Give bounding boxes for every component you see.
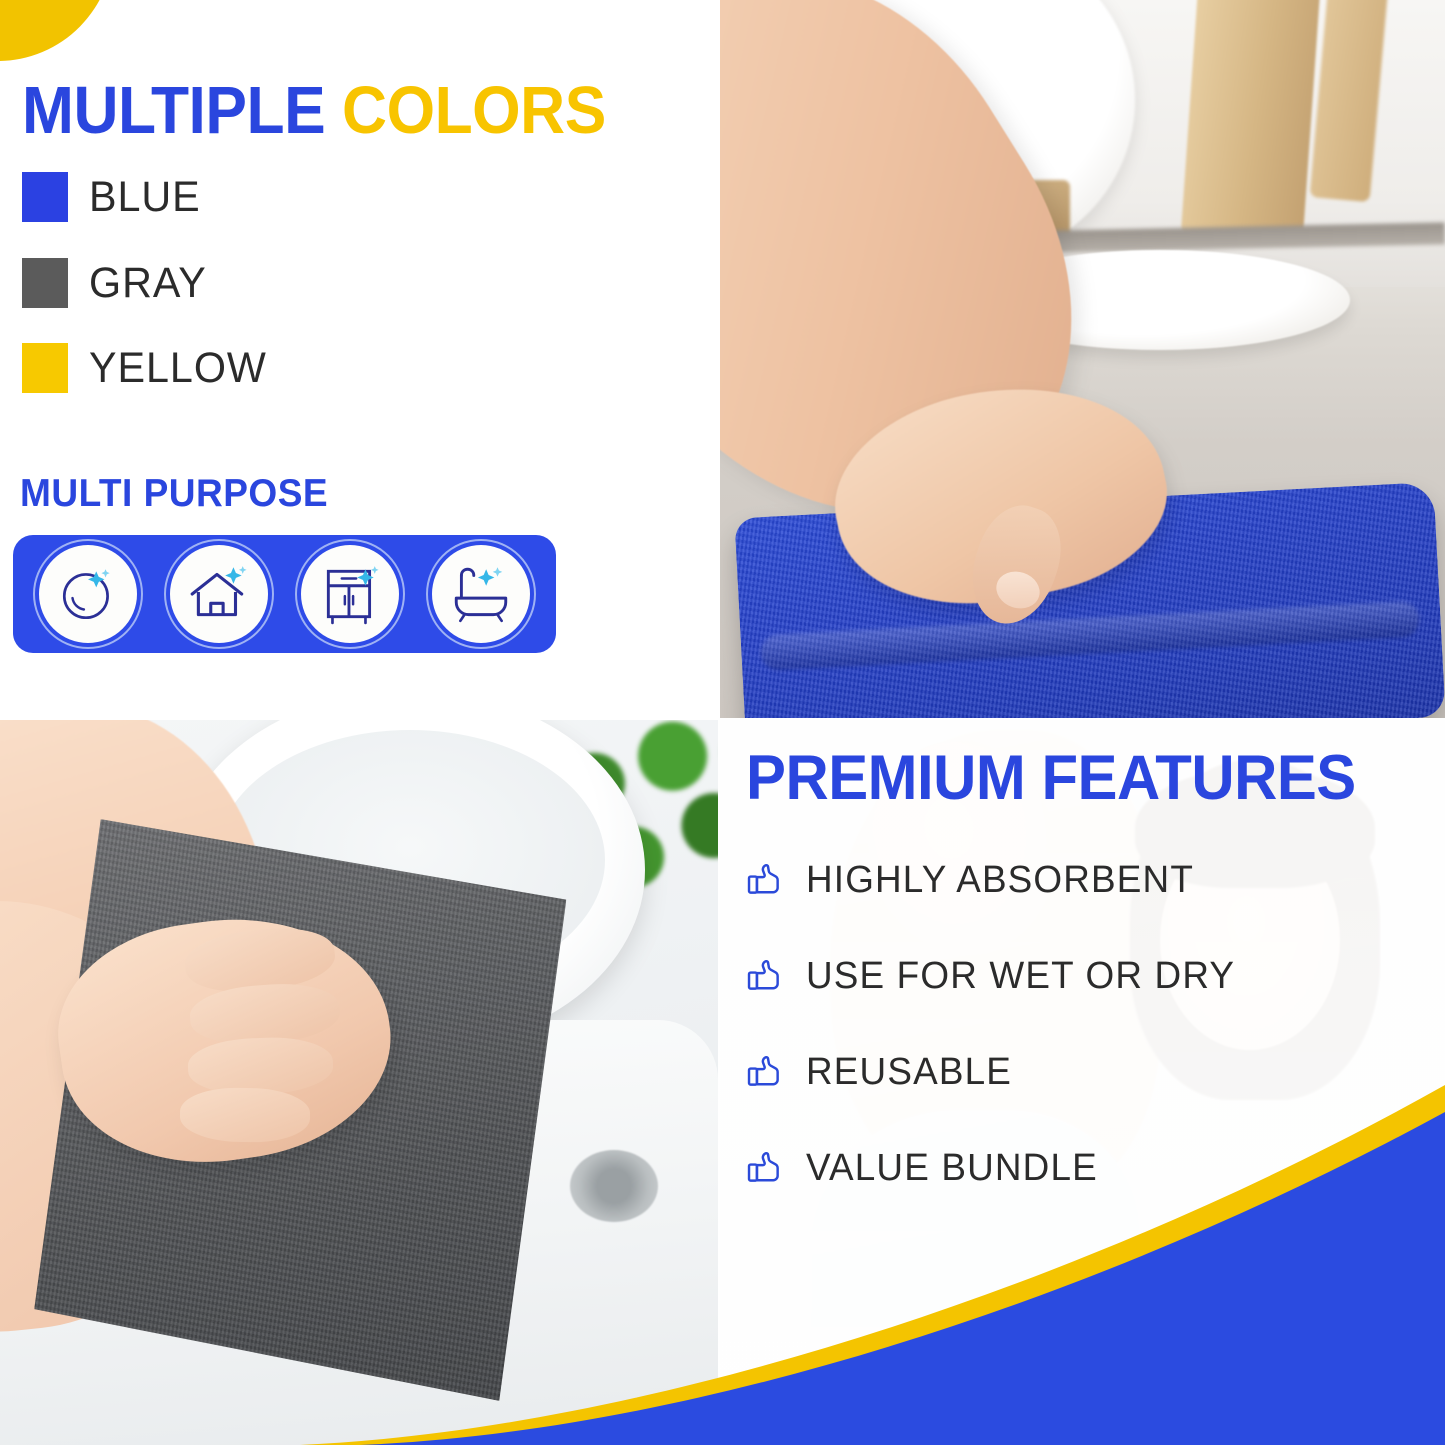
feature-label: VALUE BUNDLE	[806, 1147, 1098, 1190]
panel-multiple-colors: MULTIPLE COLORS BLUE GRAY YELLOW MULTI P…	[0, 0, 718, 718]
color-swatch-row-gray: GRAY	[22, 258, 212, 308]
photo-blue-cloth-kitchen	[720, 0, 1445, 718]
house-sparkle-icon	[186, 561, 252, 627]
thumbs-up-icon	[744, 857, 790, 903]
page-title-multiple-colors: MULTIPLE COLORS	[22, 72, 606, 149]
multi-purpose-icon-bathroom	[432, 545, 530, 643]
multi-purpose-icon-band	[13, 535, 556, 653]
cabinet-sparkle-icon	[317, 561, 383, 627]
feature-label: HIGHLY ABSORBENT	[806, 859, 1194, 902]
swatch-chip-gray	[22, 258, 68, 308]
premium-features-list: HIGHLY ABSORBENT USE FOR WET OR DRY REUS…	[744, 832, 1384, 1216]
feature-item: REUSABLE	[744, 1024, 1384, 1120]
swatch-chip-blue	[22, 172, 68, 222]
premium-features-heading: PREMIUM FEATURES	[746, 742, 1356, 814]
swatch-label-yellow: YELLOW	[89, 344, 267, 393]
multi-purpose-icon-cabinet	[301, 545, 399, 643]
finger	[180, 1087, 311, 1143]
photo-gray-cloth-sink	[0, 720, 718, 1445]
title-word-multiple: MULTIPLE	[22, 73, 325, 148]
panel-premium-features: PREMIUM FEATURES HIGHLY ABSORBENT USE FO…	[720, 720, 1445, 1445]
yellow-corner-arc-decoration	[0, 0, 114, 61]
swatch-label-gray: GRAY	[89, 259, 207, 308]
color-swatch-row-blue: BLUE	[22, 172, 205, 222]
title-word-colors: COLORS	[342, 73, 606, 148]
swatch-chip-yellow	[22, 343, 68, 393]
multi-purpose-heading: MULTI PURPOSE	[20, 472, 328, 516]
bathtub-sparkle-icon	[448, 561, 514, 627]
feature-item: USE FOR WET OR DRY	[744, 928, 1384, 1024]
swatch-label-blue: BLUE	[89, 173, 201, 222]
feature-label: REUSABLE	[806, 1051, 1012, 1094]
thumbs-up-icon	[744, 953, 790, 999]
color-swatch-row-yellow: YELLOW	[22, 343, 274, 393]
feature-item: VALUE BUNDLE	[744, 1120, 1384, 1216]
wooden-cutting-board	[1181, 0, 1322, 244]
multi-purpose-icon-dishes	[39, 545, 137, 643]
feature-item: HIGHLY ABSORBENT	[744, 832, 1384, 928]
sink-drain	[570, 1150, 658, 1222]
multi-purpose-icon-home	[170, 545, 268, 643]
feature-label: USE FOR WET OR DRY	[806, 955, 1235, 998]
thumbs-up-icon	[744, 1049, 790, 1095]
thumbs-up-icon	[744, 1145, 790, 1191]
dish-plate-sparkle-icon	[55, 561, 121, 627]
product-infographic: MULTIPLE COLORS BLUE GRAY YELLOW MULTI P…	[0, 0, 1445, 1445]
